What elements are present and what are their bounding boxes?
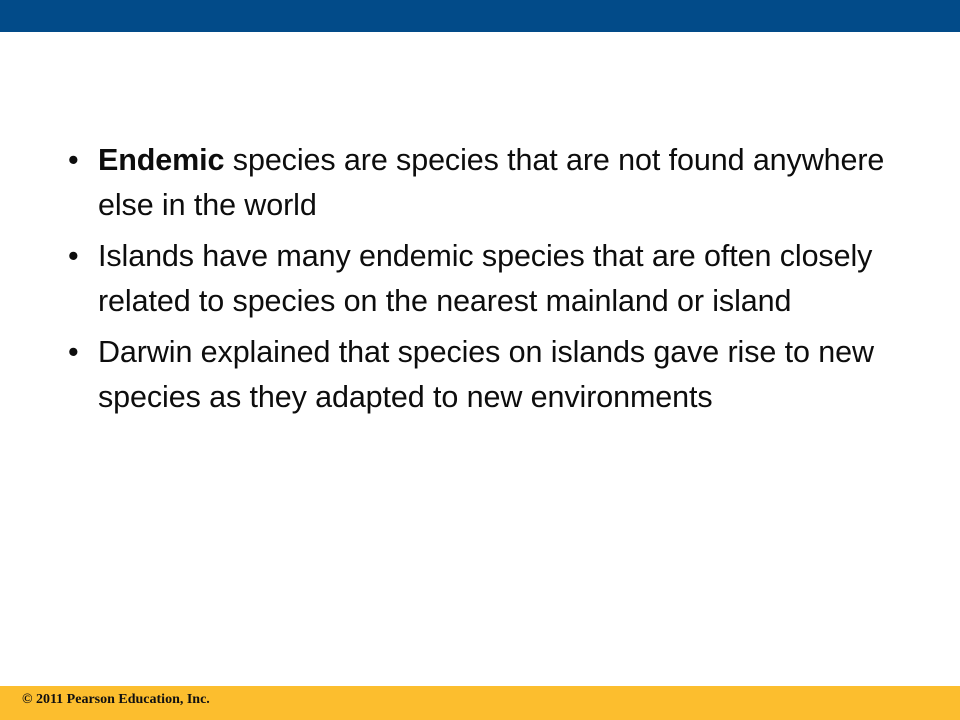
bullet-emphasis-term: Endemic xyxy=(98,143,224,177)
bullet-body-text: Darwin explained that species on islands… xyxy=(98,335,874,414)
bullet-point-icon: • xyxy=(68,330,88,375)
copyright-notice: © 2011 Pearson Education, Inc. xyxy=(22,692,210,708)
bullet-point-icon: • xyxy=(68,138,88,183)
list-item: • Endemic species are species that are n… xyxy=(56,138,886,228)
bullet-text: Darwin explained that species on islands… xyxy=(98,335,874,414)
bullet-text: Islands have many endemic species that a… xyxy=(98,239,872,318)
bullet-text: Endemic species are species that are not… xyxy=(98,143,884,222)
slide-title-area xyxy=(0,32,960,132)
slide-body: • Endemic species are species that are n… xyxy=(56,138,886,426)
slide-canvas: • Endemic species are species that are n… xyxy=(0,0,960,720)
list-item: • Darwin explained that species on islan… xyxy=(56,330,886,420)
footer-accent-band: © 2011 Pearson Education, Inc. xyxy=(0,686,960,720)
header-accent-band xyxy=(0,0,960,32)
bullet-list: • Endemic species are species that are n… xyxy=(56,138,886,420)
bullet-body-text: Islands have many endemic species that a… xyxy=(98,239,872,318)
bullet-point-icon: • xyxy=(68,234,88,279)
list-item: • Islands have many endemic species that… xyxy=(56,234,886,324)
